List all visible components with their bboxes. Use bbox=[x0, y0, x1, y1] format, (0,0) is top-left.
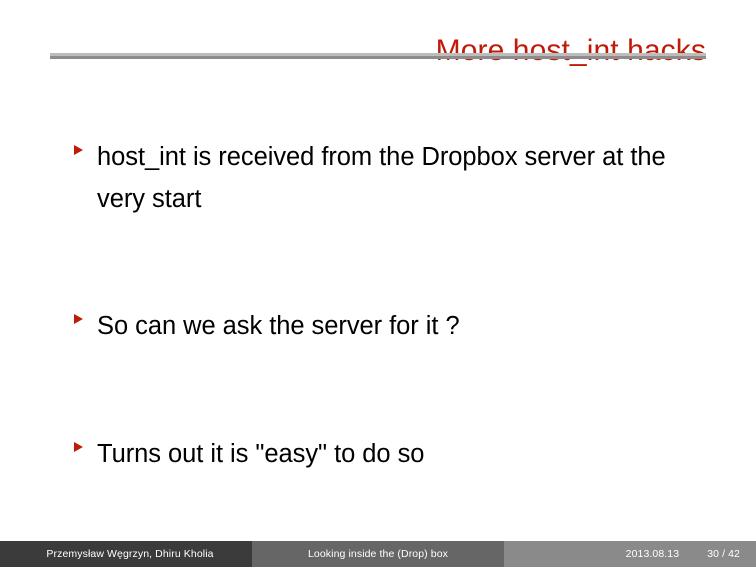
footer-subject: Looking inside the (Drop) box bbox=[252, 541, 504, 567]
bullet-item-3-label: Turns out it is "easy" to do so bbox=[97, 433, 714, 475]
bullet-item-3: Turns out it is "easy" to do so bbox=[74, 433, 714, 475]
footer-meta: 2013.08.13 30 / 42 bbox=[504, 541, 756, 567]
footer-authors: Przemysław Węgrzyn, Dhiru Kholia bbox=[0, 541, 252, 567]
triangle-right-icon bbox=[74, 314, 83, 324]
triangle-right-icon bbox=[74, 442, 83, 452]
bullet-item-2-label: So can we ask the server for it ? bbox=[97, 305, 714, 347]
bullet-item-1: host_int is received from the Dropbox se… bbox=[74, 136, 714, 220]
footer-page-number: 30 / 42 bbox=[707, 541, 740, 567]
footer-authors-label: Przemysław Węgrzyn, Dhiru Kholia bbox=[46, 541, 213, 567]
title-separator-rule bbox=[50, 53, 706, 59]
bullet-item-2: So can we ask the server for it ? bbox=[74, 305, 714, 347]
slide-footer: Przemysław Węgrzyn, Dhiru Kholia Looking… bbox=[0, 541, 756, 567]
presentation-slide: More host_int hacks host_int is received… bbox=[0, 0, 756, 567]
footer-subject-label: Looking inside the (Drop) box bbox=[308, 541, 448, 567]
slide-title: More host_int hacks bbox=[50, 34, 706, 68]
title-separator-bottom-band bbox=[50, 56, 706, 59]
triangle-right-icon bbox=[74, 145, 83, 155]
bullet-item-1-label: host_int is received from the Dropbox se… bbox=[97, 136, 714, 220]
footer-date-label: 2013.08.13 bbox=[626, 541, 680, 567]
